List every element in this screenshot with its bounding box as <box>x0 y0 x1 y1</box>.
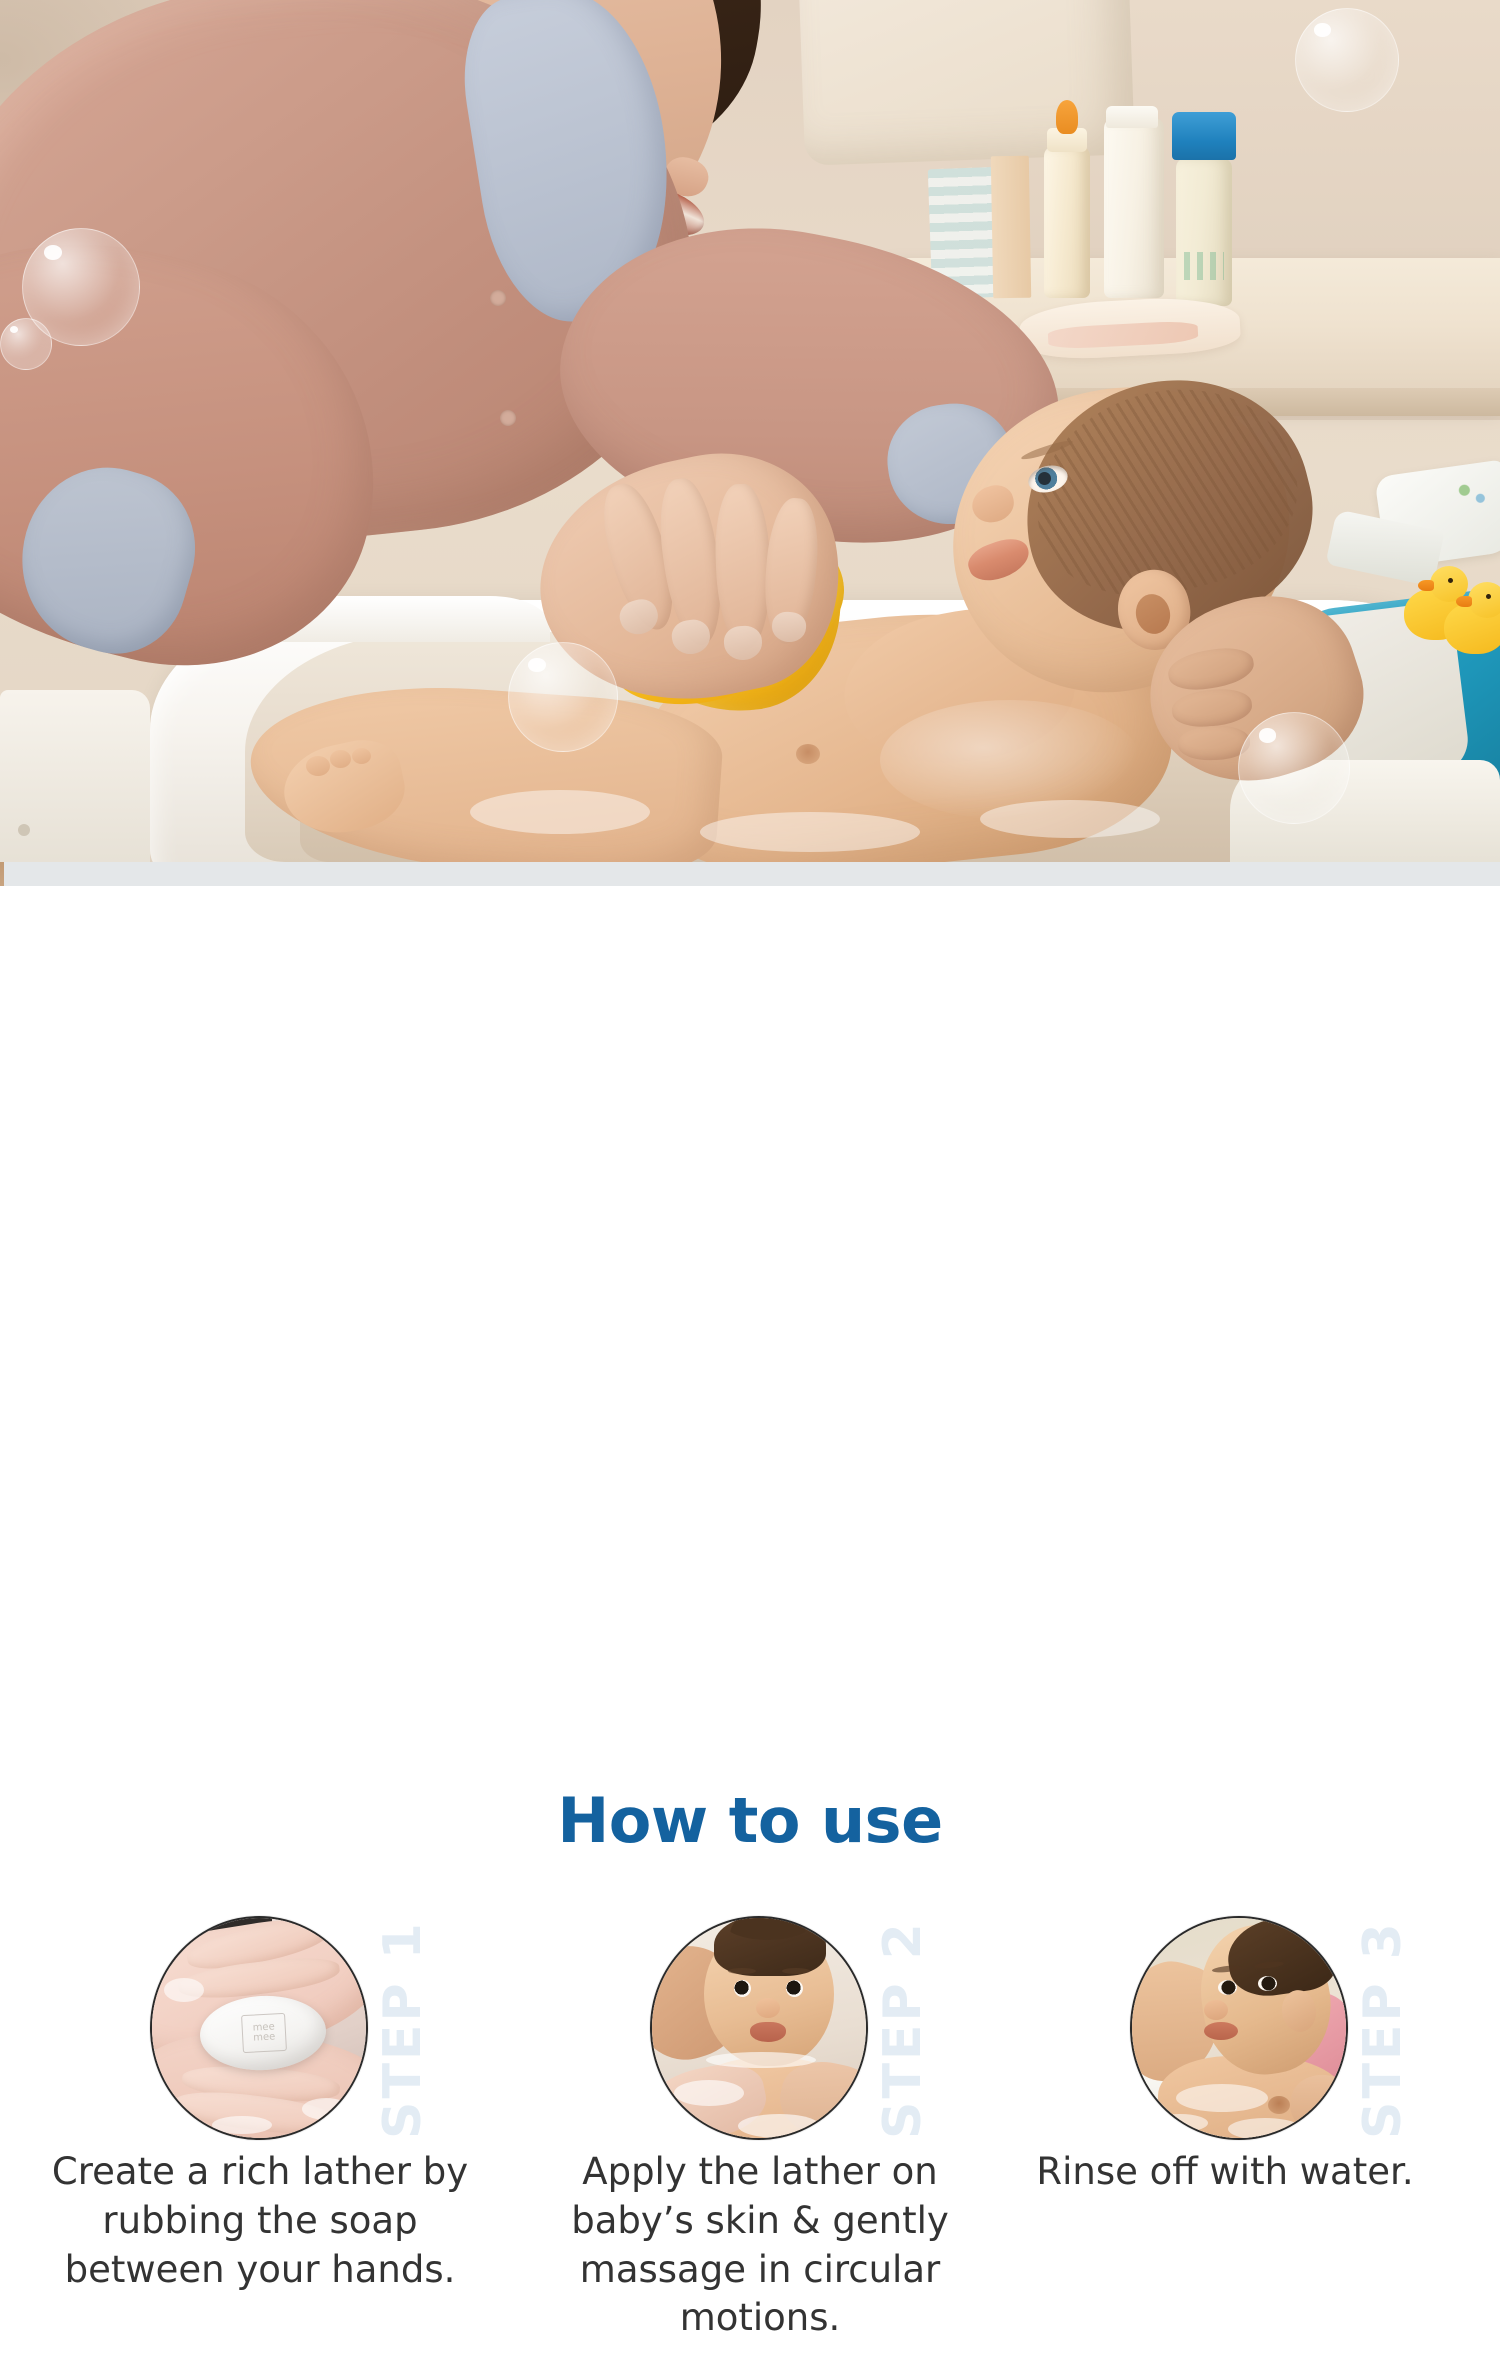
baby-toe <box>330 750 351 768</box>
baby-eye <box>734 1980 751 1997</box>
bath-suds <box>700 812 920 852</box>
lather-foam <box>212 2116 272 2134</box>
baby-toe <box>352 748 371 764</box>
water-droplets <box>1228 2118 1302 2140</box>
baby-eye <box>786 1980 803 1997</box>
step-2-image-wrap <box>650 1916 868 2140</box>
step-1: mee mee STEP 1 Create a rich lather by r… <box>25 1908 525 2378</box>
baby-eye <box>1218 1980 1237 1995</box>
steps-container: mee mee STEP 1 Create a rich lather by r… <box>0 1908 1500 2378</box>
cardigan-button <box>490 290 506 306</box>
lotion-bottle-cap <box>1106 106 1158 128</box>
towel-pattern <box>1446 473 1492 513</box>
bath-suds <box>980 800 1160 838</box>
storage-bottle-blue-cap <box>1172 112 1236 160</box>
baby-eyebrow <box>728 1968 756 1974</box>
lather-foam <box>674 2080 744 2106</box>
baby-nose <box>1204 2000 1228 2020</box>
how-to-use-section: How to use <box>0 886 1500 1500</box>
step-1-image: mee mee <box>150 1916 368 2140</box>
soap-bubble-icon <box>1238 712 1350 824</box>
cardigan-button <box>500 410 516 426</box>
page-title: How to use <box>0 1784 1500 1857</box>
bottle-teat-icon <box>1056 100 1078 134</box>
baby-nose <box>756 1998 780 2018</box>
step-2-image <box>650 1916 868 2140</box>
step-2-label: STEP 2 <box>883 1930 923 2130</box>
step-3: STEP 3 Rinse off with water. <box>1005 1908 1500 2378</box>
lather-foam <box>302 2098 350 2120</box>
section-divider <box>0 862 1500 886</box>
lather-foam <box>164 1978 204 2002</box>
baby-mouth <box>1204 2022 1238 2040</box>
step-1-caption: Create a rich lather by rubbing the soap… <box>25 2148 495 2294</box>
step-1-label: STEP 1 <box>383 1930 423 2130</box>
bathtub-stand <box>0 690 150 862</box>
step-2: STEP 2 Apply the lather on baby’s skin &… <box>525 1908 1025 2378</box>
water-droplets <box>1152 2114 1208 2132</box>
baby-eye <box>1258 1976 1277 1991</box>
step-3-image-wrap <box>1130 1916 1348 2140</box>
step-3-image <box>1130 1916 1348 2140</box>
baby-pupil <box>1038 472 1051 485</box>
baby-eyebrow <box>782 1968 810 1974</box>
book-on-shelf <box>991 156 1031 299</box>
baby-navel <box>1268 2096 1290 2114</box>
step-3-caption: Rinse off with water. <box>1005 2148 1445 2197</box>
bath-suds <box>470 790 650 834</box>
bathtub-stand-bolt <box>18 824 30 836</box>
soap-bubble-icon <box>508 642 618 752</box>
baby-navel <box>796 744 820 764</box>
step-3-label: STEP 3 <box>1363 1930 1403 2130</box>
baby-feeding-bottle <box>1044 146 1090 298</box>
hero-photo <box>0 0 1500 862</box>
soap-bubble-icon <box>1295 8 1399 112</box>
soap-bubble-icon <box>0 318 52 370</box>
baby-toe <box>306 756 330 776</box>
baby-mouth <box>750 2022 786 2042</box>
infographic-page: How to use <box>0 0 1500 1500</box>
lotion-bottle <box>1104 118 1164 298</box>
step-2-caption: Apply the lather on baby’s skin & gently… <box>525 2148 995 2343</box>
soap-brand-logo: mee mee <box>243 2017 285 2049</box>
water-droplets <box>1176 2084 1268 2112</box>
soap-logo-line-2: mee <box>253 2032 276 2043</box>
storage-bottle <box>1176 158 1232 306</box>
lather-foam <box>706 2052 816 2068</box>
bottle-measure-marks <box>1184 252 1224 280</box>
step-1-image-wrap: mee mee <box>150 1916 368 2140</box>
lather-foam <box>738 2114 820 2138</box>
